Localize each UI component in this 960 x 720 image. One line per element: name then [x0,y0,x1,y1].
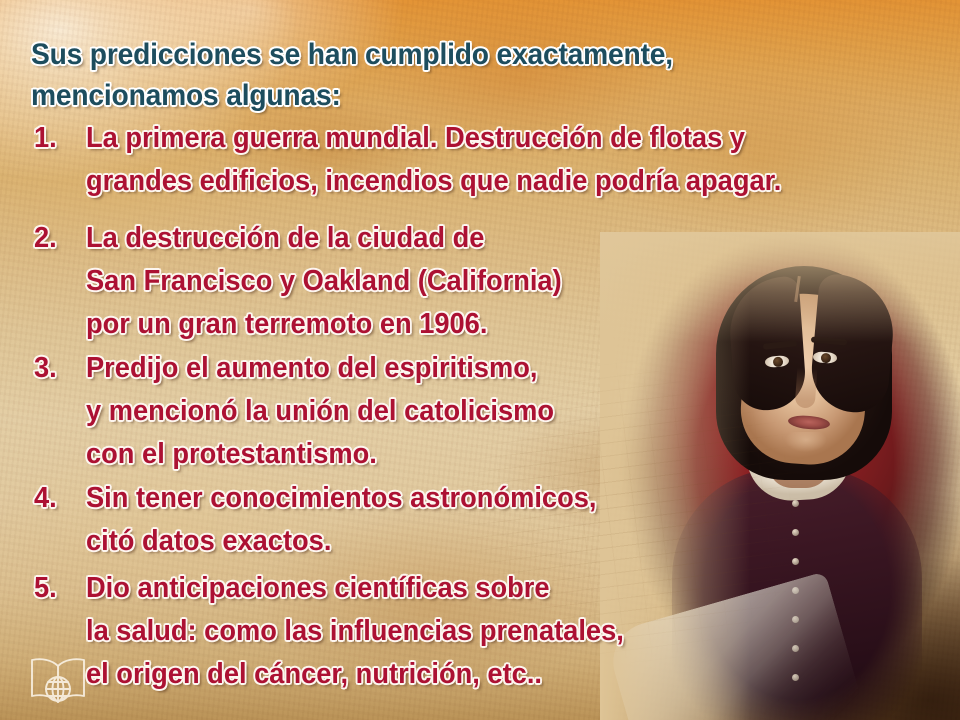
list-item-number: 1. [34,122,57,155]
list-item-number: 3. [34,352,57,385]
list-item-line: Sin tener conocimientos astronómicos, [86,482,596,515]
list-item-line: San Francisco y Oakland (California) [86,265,562,298]
slide-title-line-2: mencionamos algunas: [31,79,877,113]
list-item-number: 4. [34,482,57,515]
list-item-line: La primera guerra mundial. Destrucción d… [86,122,745,155]
list-item-line: el origen del cáncer, nutrición, etc.. [86,658,542,691]
list-item-line: por un gran terremoto en 1906. [86,308,487,341]
list-item-line: citó datos exactos. [86,525,331,558]
list-item-line: La destrucción de la ciudad de [86,222,484,255]
slide-content: Sus predicciones se han cumplido exactam… [0,0,960,720]
open-bible-globe-logo [22,652,94,712]
list-item-line: Dio anticipaciones científicas sobre [86,572,550,605]
list-item-line: Predijo el aumento del espiritismo, [86,352,537,385]
list-item-line: y mencionó la unión del catolicismo [86,395,554,428]
list-item-number: 5. [34,572,57,605]
list-item-line: grandes edificios, incendios que nadie p… [86,165,781,198]
list-item-line: con el protestantismo. [86,438,377,471]
list-item-number: 2. [34,222,57,255]
slide-canvas: Sus predicciones se han cumplido exactam… [0,0,960,720]
list-item-line: la salud: como las influencias prenatale… [86,615,624,648]
slide-title-line-1: Sus predicciones se han cumplido exactam… [31,38,877,72]
